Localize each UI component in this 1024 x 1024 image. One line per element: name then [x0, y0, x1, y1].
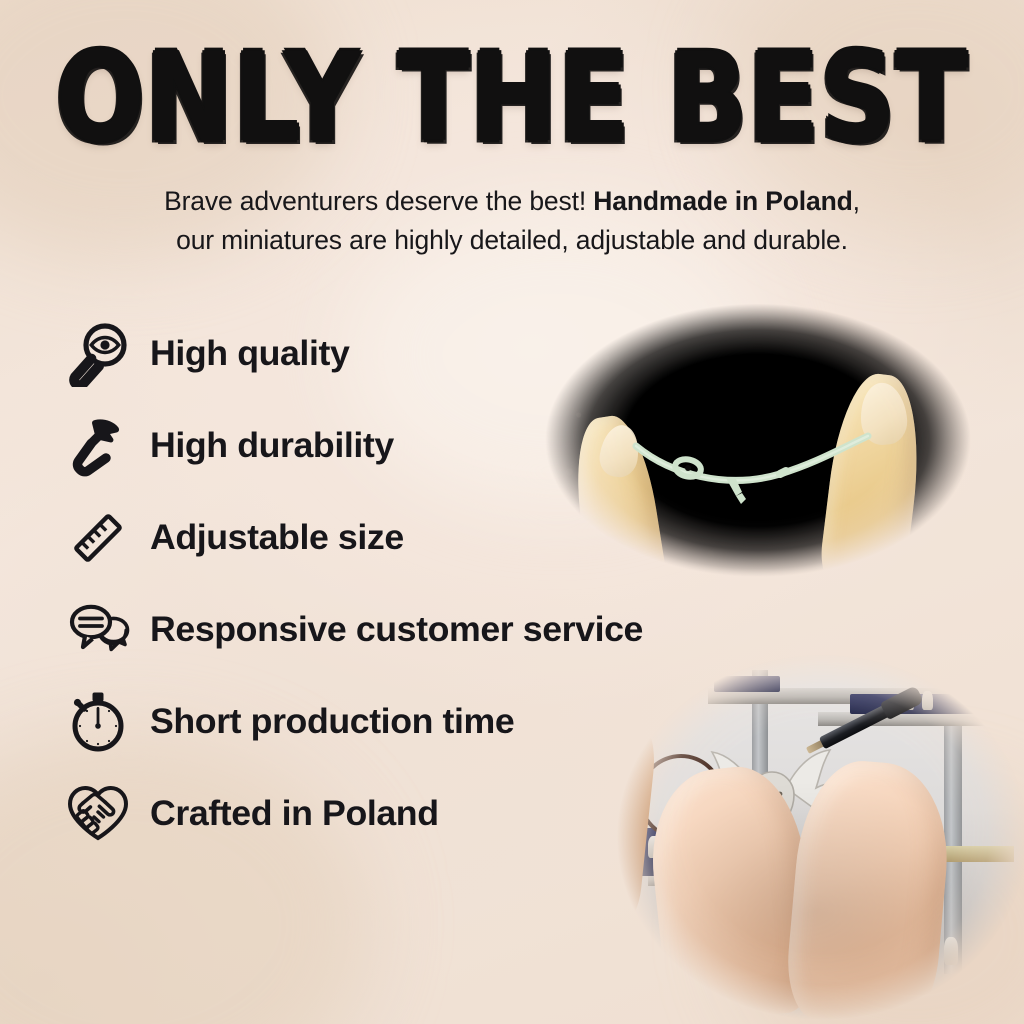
- stopwatch-icon: [62, 686, 134, 758]
- flexible-miniature-part: [630, 428, 882, 502]
- subtitle-highlight: Handmade in Poland: [593, 186, 852, 216]
- subtitle-tail: ,: [853, 186, 860, 216]
- speech-bubbles-icon: [62, 594, 134, 666]
- heart-handshake-icon: [62, 778, 134, 850]
- feature-label: Crafted in Poland: [150, 794, 439, 834]
- feature-label: Adjustable size: [150, 518, 404, 558]
- subtitle: Brave adventurers deserve the best! Hand…: [0, 182, 1024, 259]
- feature-label: Responsive customer service: [150, 610, 643, 650]
- workshop-painting-photo: [604, 650, 1024, 1024]
- hammer-icon: [62, 410, 134, 482]
- title-block: ONLY THE BEST: [0, 34, 1024, 139]
- feature-label: High quality: [150, 334, 349, 374]
- poster-canvas: ONLY THE BEST Brave adventurers deserve …: [0, 0, 1024, 1024]
- magnifier-eye-icon: [62, 318, 134, 390]
- flexible-miniature-photo: [522, 276, 994, 592]
- photo-shadow: [604, 650, 1024, 1024]
- subtitle-lead: Brave adventurers deserve the best!: [164, 186, 586, 216]
- subtitle-line-2: our miniatures are highly detailed, adju…: [176, 225, 848, 255]
- ruler-icon: [62, 502, 134, 574]
- feature-label: Short production time: [150, 702, 514, 742]
- page-title: ONLY THE BEST: [0, 34, 1024, 162]
- feature-label: High durability: [150, 426, 394, 466]
